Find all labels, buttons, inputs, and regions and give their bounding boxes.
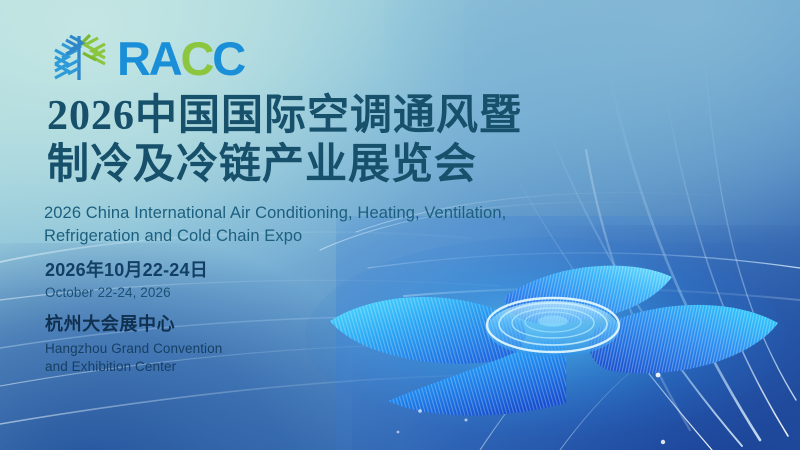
banner-content: R A C C 2026中国国际空调通风暨 制冷及冷链产业展览会 2026 Ch… bbox=[0, 0, 800, 450]
event-title-english: 2026 China International Air Conditionin… bbox=[44, 202, 624, 249]
brand-logo[interactable]: R A C C bbox=[52, 30, 244, 86]
brand-letter-c2: C bbox=[212, 35, 244, 82]
event-title-chinese: 2026中国国际空调通风暨 制冷及冷链产业展览会 bbox=[47, 92, 587, 189]
brand-wordmark: R A C C bbox=[117, 35, 244, 82]
brand-letter-c1: C bbox=[181, 35, 213, 82]
event-venue-chinese: 杭州大会展中心 bbox=[45, 313, 222, 336]
event-date-english: October 22-24, 2026 bbox=[45, 285, 208, 302]
event-venue: 杭州大会展中心 Hangzhou Grand Convention and Ex… bbox=[45, 313, 222, 376]
brand-letter-r: R bbox=[117, 35, 149, 82]
snowflake-icon bbox=[52, 30, 108, 86]
event-venue-english: Hangzhou Grand Convention and Exhibition… bbox=[45, 340, 222, 377]
event-date: 2026年10月22-24日 October 22-24, 2026 bbox=[45, 259, 208, 301]
event-date-chinese: 2026年10月22-24日 bbox=[45, 259, 208, 282]
event-banner: R A C C 2026中国国际空调通风暨 制冷及冷链产业展览会 2026 Ch… bbox=[0, 0, 800, 450]
brand-letter-a: A bbox=[149, 35, 181, 82]
